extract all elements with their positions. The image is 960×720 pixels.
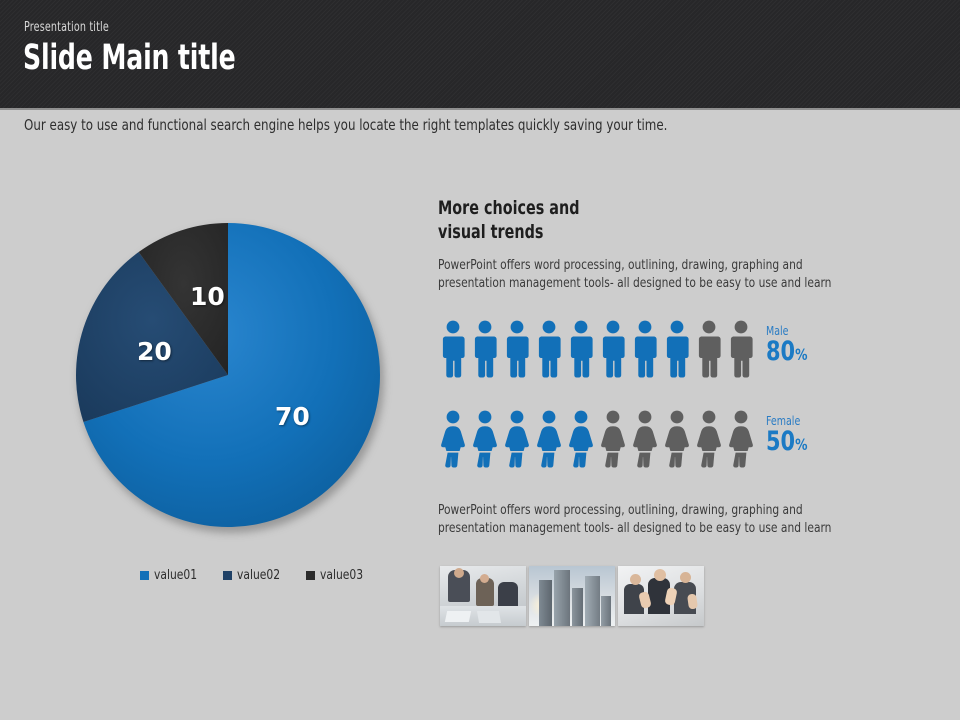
male-figure-icon [726,320,756,378]
female-figure-icon [502,410,532,468]
female-stat-percent-symbol: % [795,435,807,454]
city-skyscrapers-photo[interactable] [529,566,615,626]
legend-label-value02: value02 [237,568,280,583]
legend-item-value02[interactable]: value02 [223,568,284,583]
female-figure-icon [470,410,500,468]
male-stat-value: 80% [766,338,807,369]
pie-slice-label-value02: 20 [137,337,172,366]
male-figure-icon [438,320,468,378]
photo-shape [585,576,600,626]
legend-label-value01: value01 [154,568,197,583]
section-heading-line1: More choices and [438,196,791,220]
photo-shape [687,593,698,609]
legend-swatch-value01 [140,571,149,580]
photo-strip [440,566,704,626]
male-figure-icon [534,320,564,378]
female-figure-icon [694,410,724,468]
male-stat-number: 80 [766,336,795,367]
pie-chart-legend: value01 value02 value03 [140,568,366,583]
right-content-column: More choices and visual trends PowerPoin… [438,196,858,244]
presentation-title: Presentation title [24,20,109,35]
female-figure-icon [438,410,468,468]
outro-paragraph: PowerPoint offers word processing, outli… [438,501,885,537]
photo-shape [680,572,691,583]
legend-item-value01[interactable]: value01 [140,568,201,583]
photo-shape [572,588,583,626]
photo-shape [601,596,611,626]
presentation-slide: Presentation title Slide Main title Our … [0,0,960,720]
female-figure-icon [630,410,660,468]
legend-swatch-value03 [306,571,315,580]
photo-shape [554,570,570,626]
female-figure-icon [726,410,756,468]
male-stat: Male 80% [766,320,814,369]
photo-shape [480,574,489,583]
female-stat-number: 50 [766,426,795,457]
business-team-meeting-photo[interactable] [440,566,526,626]
male-stat-percent-symbol: % [795,345,807,364]
photo-shape [654,569,666,581]
pie-slice-label-value01: 70 [275,402,310,431]
header-divider [0,108,960,110]
female-figure-group [438,410,756,468]
legend-item-value03[interactable]: value03 [306,568,367,583]
male-figure-icon [502,320,532,378]
slide-subtitle: Our easy to use and functional search en… [24,116,667,134]
photo-shape [454,568,464,578]
intro-paragraph: PowerPoint offers word processing, outli… [438,256,885,292]
pie-slice-label-value03: 10 [190,282,225,311]
photo-shape [630,574,641,585]
section-heading-line2: visual trends [438,220,791,244]
photo-shape [539,580,552,626]
intro-paragraph-line2: presentation management tools- all desig… [438,274,831,292]
photo-shape [445,611,471,622]
female-figure-icon [598,410,628,468]
photo-shape [477,611,501,623]
outro-paragraph-line1: PowerPoint offers word processing, outli… [438,501,831,519]
male-figure-icon [662,320,692,378]
legend-swatch-value02 [223,571,232,580]
outro-paragraph-line2: presentation management tools- all desig… [438,519,831,537]
male-figure-icon [694,320,724,378]
female-figure-icon [662,410,692,468]
female-figure-icon [534,410,564,468]
legend-label-value03: value03 [320,568,363,583]
male-figure-icon [470,320,500,378]
pie-chart-svg [75,222,381,528]
male-figure-group [438,320,756,378]
applauding-audience-photo[interactable] [618,566,704,626]
female-stat-value: 50% [766,428,807,459]
female-figure-icon [566,410,596,468]
slide-main-title: Slide Main title [23,38,236,78]
male-figure-icon [598,320,628,378]
slide-header: Presentation title Slide Main title [0,0,960,110]
intro-paragraph-line1: PowerPoint offers word processing, outli… [438,256,831,274]
pictogram-row-female: Female 50% [438,410,814,468]
pictogram-row-male: Male 80% [438,320,814,378]
pie-chart: 70 20 10 [75,222,381,528]
female-stat: Female 50% [766,410,814,459]
male-figure-icon [566,320,596,378]
male-figure-icon [630,320,660,378]
